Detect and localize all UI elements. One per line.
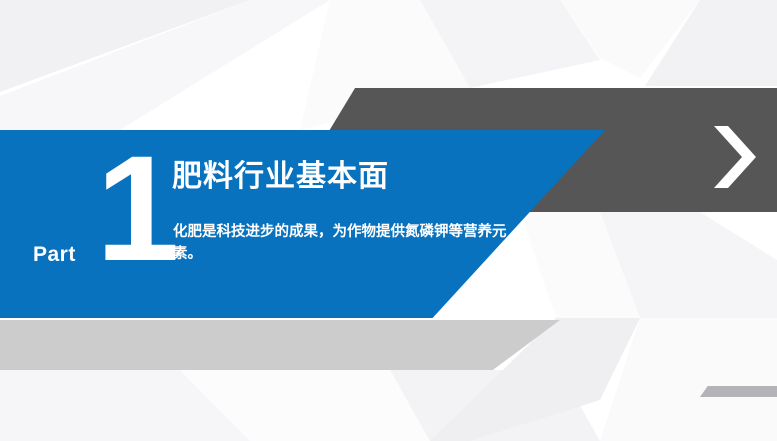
page-subtitle: 化肥是科技进步的成果，为作物提供氮磷钾等营养元素。 [173, 221, 533, 266]
section-number: 1 [96, 133, 175, 283]
page-title: 肥料行业基本面 [172, 160, 389, 193]
part-label: Part [33, 244, 76, 265]
presentation-slide: Part 1 肥料行业基本面 化肥是科技进步的成果，为作物提供氮磷钾等营养元素。 [0, 0, 777, 441]
chevron-right-icon [708, 126, 760, 188]
gray-accent-stripe [700, 386, 777, 397]
light-gray-band [0, 320, 560, 370]
